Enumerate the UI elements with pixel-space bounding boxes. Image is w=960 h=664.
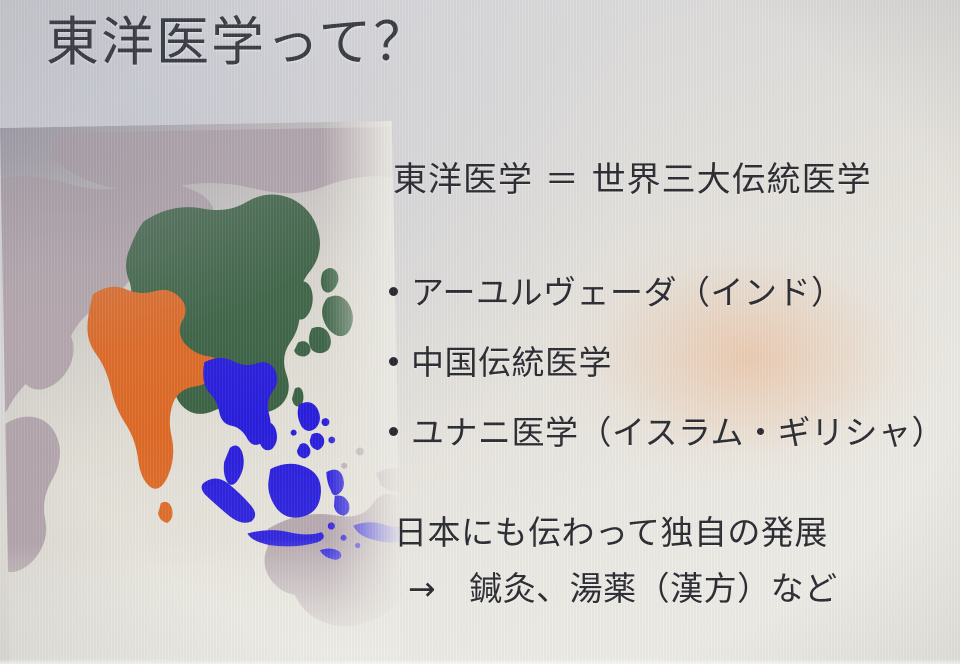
slide-headline: 東洋医学 ＝ 世界三大伝統医学 (393, 152, 872, 201)
bullet-dot-icon (389, 287, 398, 296)
traditional-medicine-list: アーユルヴェーダ（インド） 中国伝統医学 ユナニ医学（イスラム・ギリシャ） (389, 266, 945, 476)
asia-map-svg (0, 121, 402, 664)
list-item: ユナニ医学（イスラム・ギリシャ） (389, 406, 945, 454)
slide-title: 東洋医学って？ (46, 14, 428, 71)
list-item-label: アーユルヴェーダ（インド） (411, 266, 845, 314)
list-item-label: ユナニ医学（イスラム・ギリシャ） (411, 406, 945, 454)
asia-map-image (0, 121, 402, 664)
list-item: 中国伝統医学 (389, 336, 945, 384)
arrow-right-icon: → (408, 569, 436, 608)
presentation-slide-photo: 東洋医学って？ 東洋医学 ＝ 世界三大伝統医学 アーユルヴェーダ（インド） 中国… (0, 0, 960, 664)
list-item: アーユルヴェーダ（インド） (389, 266, 945, 314)
bullet-dot-icon (389, 357, 398, 366)
bullet-dot-icon (389, 427, 398, 436)
closing-line-japan: 日本にも伝わって独自の発展 (394, 506, 828, 554)
closing-line-examples: → 鍼灸、湯薬（漢方）など (408, 562, 838, 610)
closing-examples-label: 鍼灸、湯薬（漢方）など (469, 569, 838, 608)
list-item-label: 中国伝統医学 (411, 336, 612, 384)
